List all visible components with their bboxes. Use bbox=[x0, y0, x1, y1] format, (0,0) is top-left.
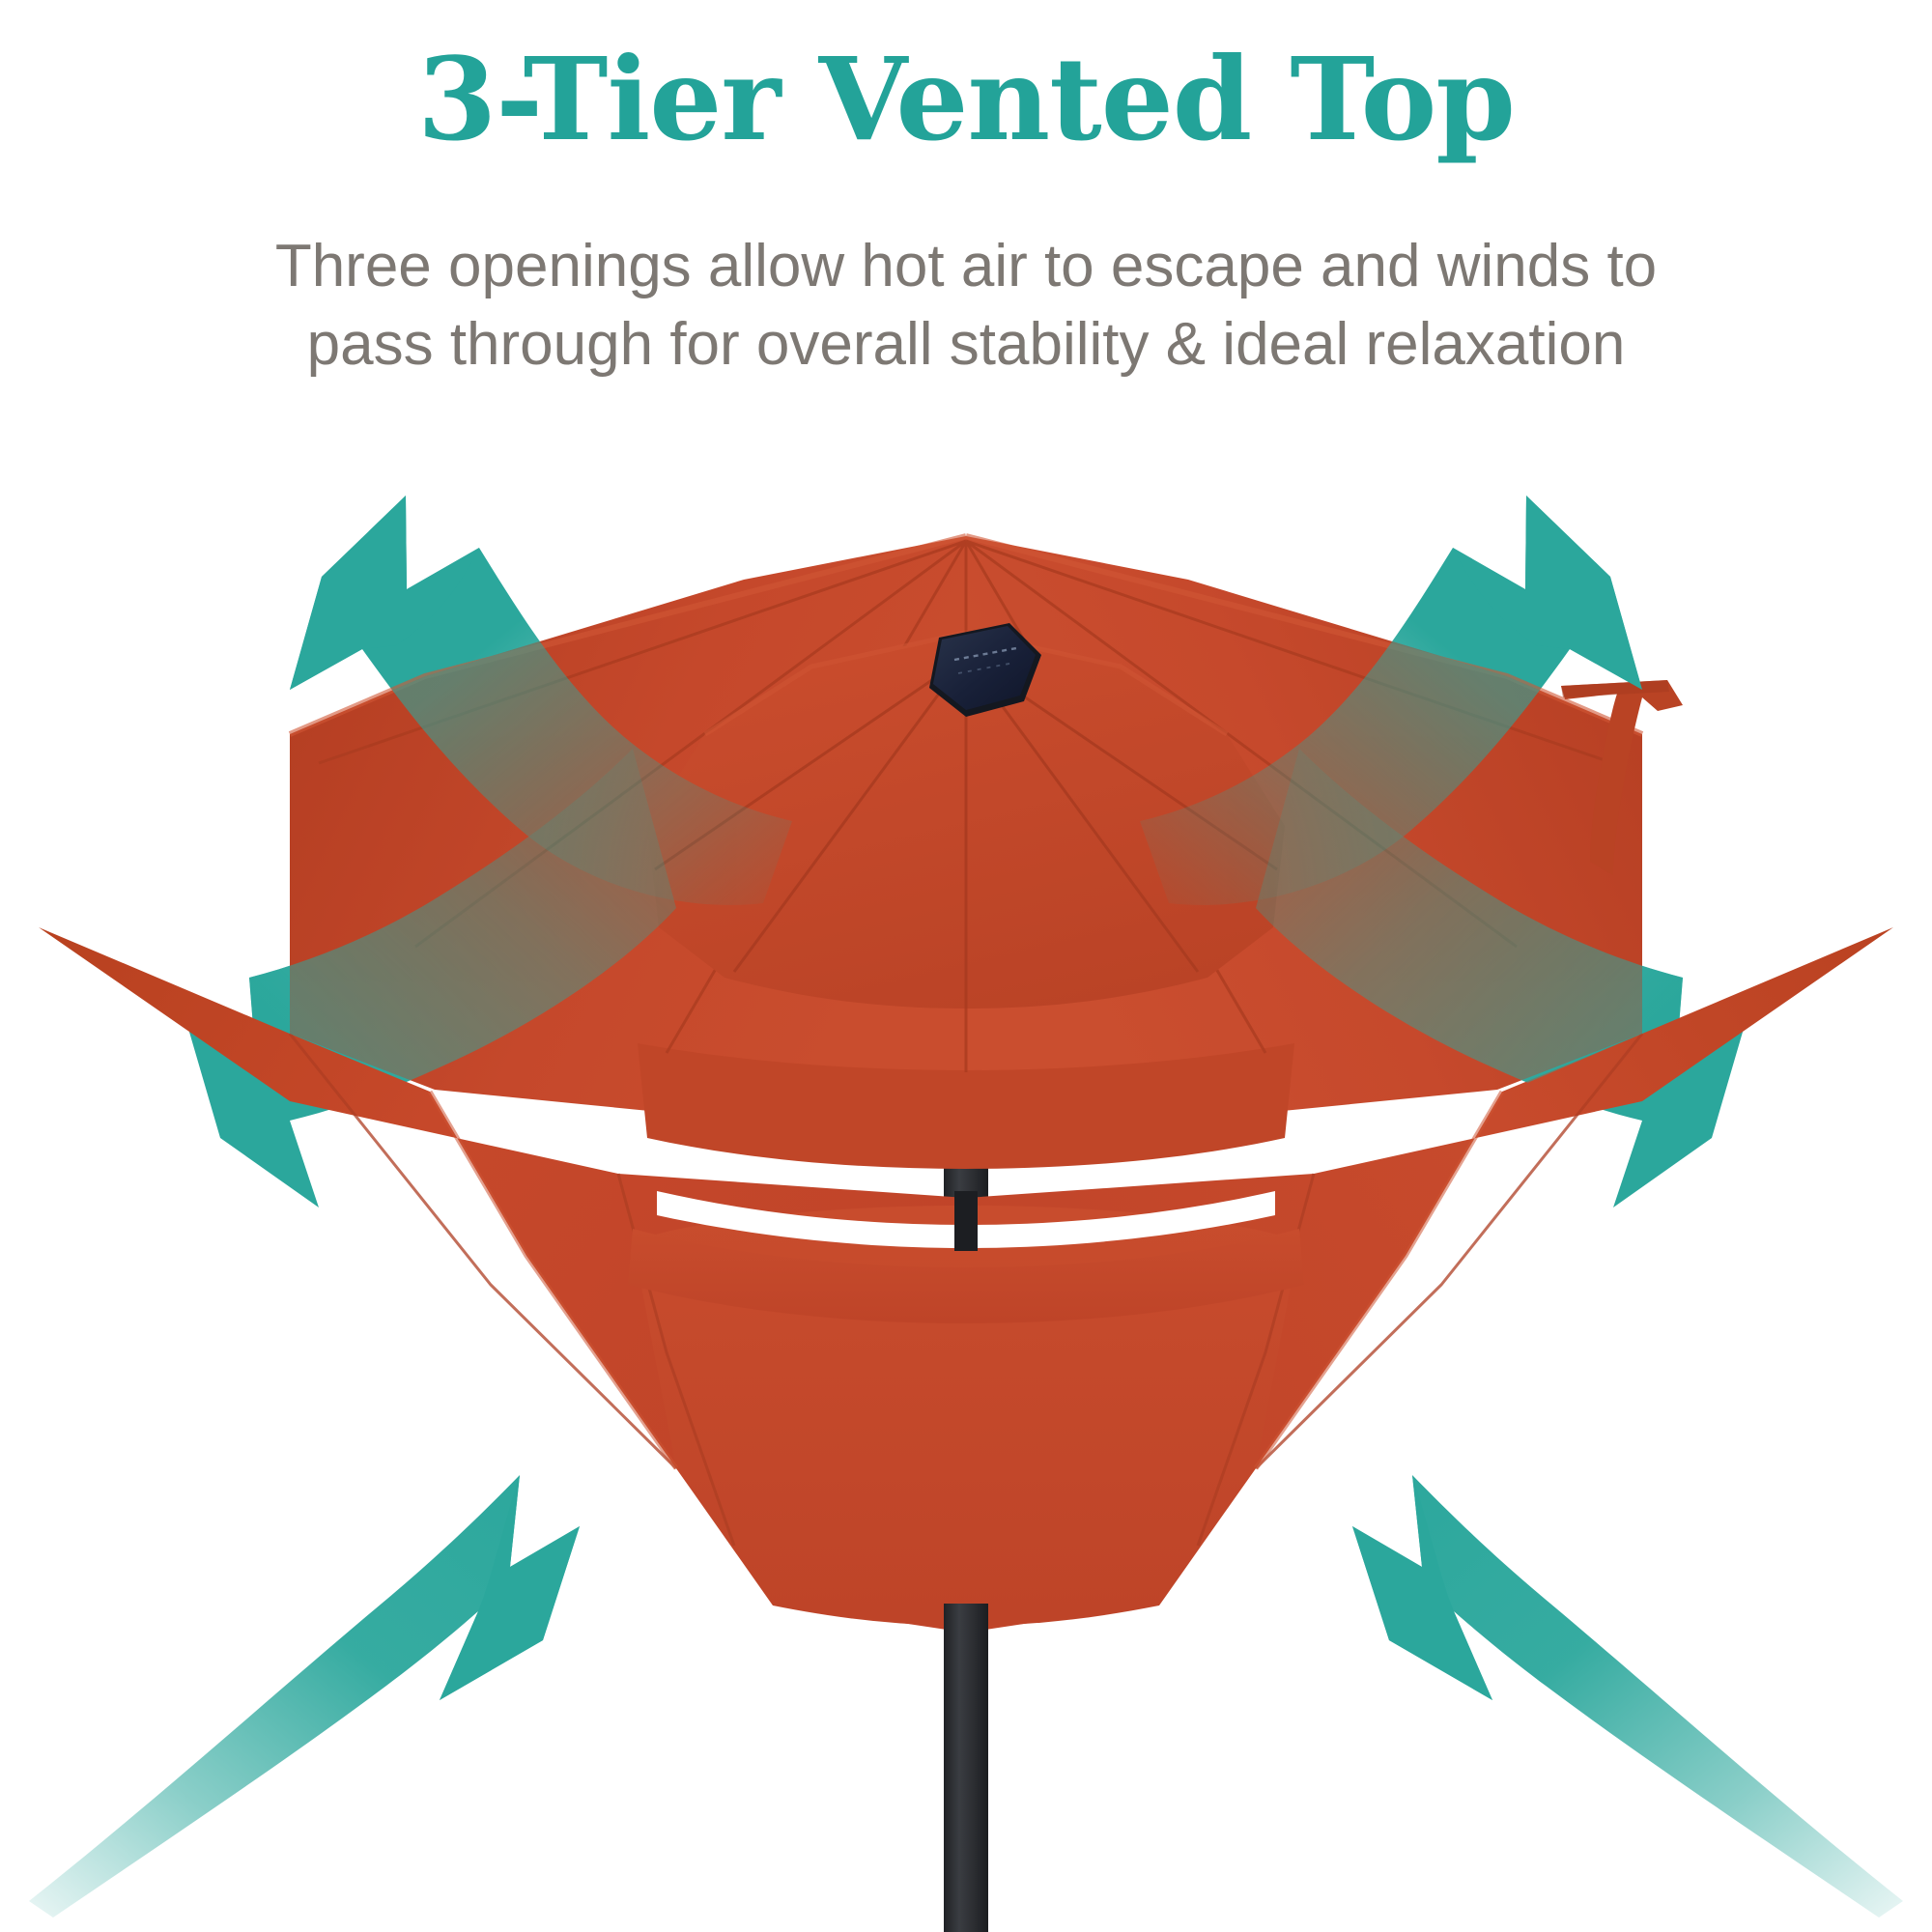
product-illustration bbox=[0, 0, 1932, 1932]
product-feature-card: 3-Tier Vented Top Three openings allow h… bbox=[0, 0, 1932, 1932]
pole-through-vent bbox=[954, 1191, 978, 1251]
airflow-arrow-bottom-left bbox=[29, 1475, 580, 1918]
center-pole-lower bbox=[944, 1604, 988, 1932]
airflow-arrow-bottom-right bbox=[1352, 1475, 1903, 1918]
